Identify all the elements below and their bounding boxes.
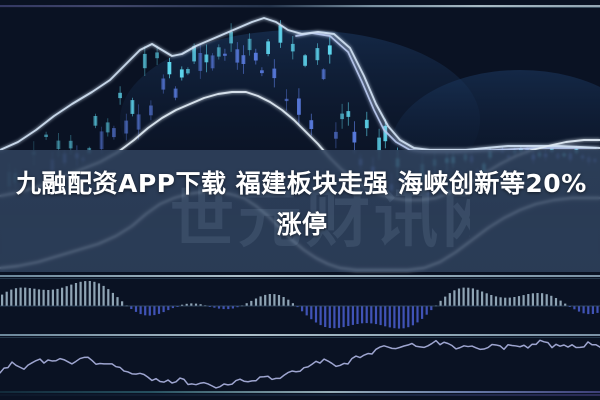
panel-divider-macd-bottom-thin [0,337,600,338]
panel-divider-macd-top [0,275,600,277]
headline-line-2: 涨停 [16,204,588,245]
bottom-rule [0,391,600,393]
news-thumbnail-image: 世元财讯网 九融配资APP下载 福建板块走强 海峡创新等20% 涨停 [0,0,600,400]
headline-line-1: 九融配资APP下载 福建板块走强 海峡创新等20% [16,163,588,204]
bottom-rule-shadow [0,394,600,396]
panel-divider-macd-bottom [0,334,600,336]
headline-text: 九融配资APP下载 福建板块走强 海峡创新等20% 涨停 [16,163,588,245]
top-rule-shadow [0,7,600,8]
panel-divider-macd-top-thin [0,278,600,279]
